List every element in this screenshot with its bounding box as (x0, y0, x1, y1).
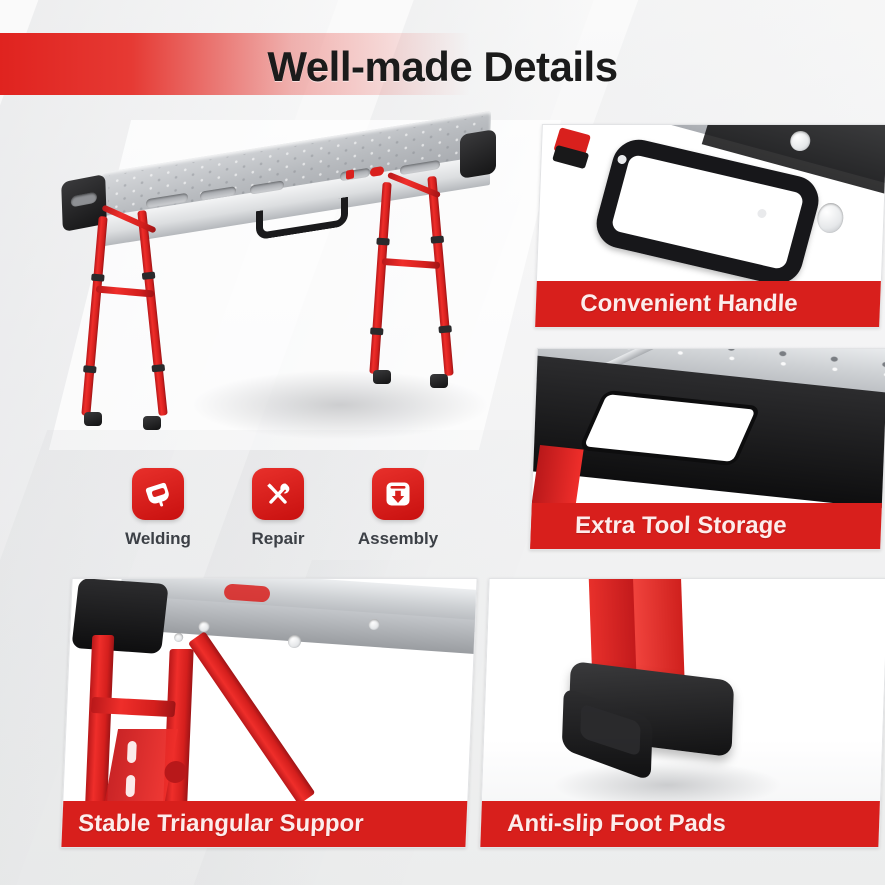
caption-text: Convenient Handle (580, 290, 798, 318)
feature-label: Assembly (358, 529, 438, 549)
feature-welding[interactable]: Welding (120, 468, 196, 568)
hero-product-image (40, 120, 530, 460)
caption-text: Extra Tool Storage (575, 512, 788, 540)
wrench-screwdriver-icon (252, 468, 304, 520)
foot-pad-front-left (84, 412, 102, 426)
infographic-page: Well-made Details (0, 0, 885, 885)
leg-rear-right (369, 182, 391, 374)
caption-extra-tool-storage: Extra Tool Storage (529, 503, 885, 549)
bench-red-accent (346, 169, 354, 179)
feature-label: Repair (252, 529, 305, 549)
caption-anti-slip-foot-pads: Anti-slip Foot Pads (479, 801, 885, 847)
detail-panel-anti-slip-foot-pads: Anti-slip Foot Pads (479, 578, 885, 848)
rail-hole (288, 635, 302, 648)
feature-icon-row: Welding Repair (120, 468, 450, 568)
page-title: Well-made Details (0, 36, 885, 98)
leg-crossbar-right (382, 258, 440, 269)
welding-mask-icon (132, 468, 184, 520)
feature-label: Welding (125, 529, 191, 549)
leg-front-left (81, 216, 107, 416)
rail-bolt (174, 633, 183, 642)
deck-hole (817, 203, 844, 233)
leg-rear-left (137, 210, 167, 416)
feature-repair[interactable]: Repair (240, 468, 316, 568)
caption-stable-triangular-support: Stable Triangular Suppor (60, 801, 477, 847)
support-diagonal-brace (188, 631, 315, 805)
caption-text: Stable Triangular Suppor (78, 810, 365, 838)
detail-panel-extra-tool-storage: Extra Tool Storage (529, 348, 885, 550)
gusset-hole (125, 775, 135, 797)
bench-end-cap-right (460, 129, 496, 179)
foot-pad-front-right (430, 374, 448, 388)
foot-pad-rear-right (373, 370, 391, 384)
end-cap-grip (71, 192, 97, 208)
red-accent (223, 583, 271, 602)
caption-text: Anti-slip Foot Pads (507, 810, 727, 838)
detail-panel-convenient-handle: Convenient Handle (534, 124, 885, 328)
leg-front-right (427, 176, 453, 376)
gusset-hole (127, 741, 137, 763)
black-end-cap (71, 579, 168, 654)
foot-pad-rear-left (143, 416, 161, 430)
caption-convenient-handle: Convenient Handle (534, 281, 885, 327)
feature-assembly[interactable]: Assembly (360, 468, 436, 568)
box-down-arrow-icon (372, 468, 424, 520)
detail-panel-stable-triangular-support: Stable Triangular Suppor (60, 578, 477, 848)
